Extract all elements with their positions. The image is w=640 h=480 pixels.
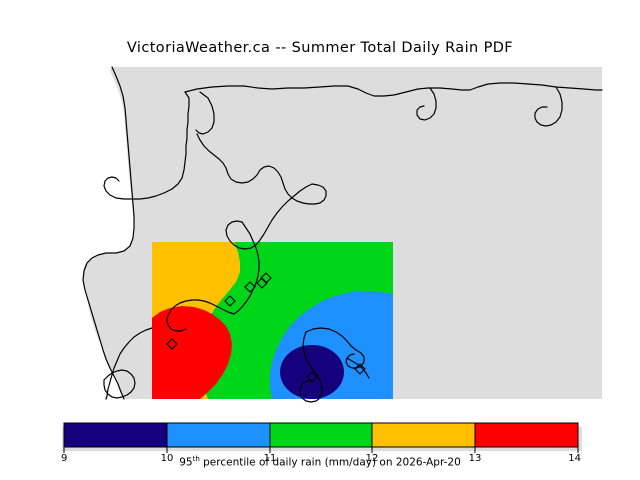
colorbar-band-12-13[interactable] [372, 423, 475, 447]
colorbar-band-10-11[interactable] [167, 423, 270, 447]
colorbar-band-9-10[interactable] [64, 423, 167, 447]
figure-title: VictoriaWeather.ca -- Summer Total Daily… [0, 40, 640, 56]
colorbar-caption: 95th percentile of daily rain (mm/day) o… [0, 455, 640, 469]
caption-suffix: percentile of daily rain (mm/day) on 202… [200, 457, 461, 469]
contour-fill-layer [152, 242, 393, 399]
map-svg [0, 62, 640, 407]
caption-prefix: 95 [179, 457, 192, 469]
colorbar-panel: 9 10 11 12 13 14 [0, 415, 640, 480]
colorbar-band-13-14[interactable] [475, 423, 578, 447]
caption-superscript: th [193, 455, 200, 463]
colorbar-band-11-12[interactable] [270, 423, 372, 447]
weather-map-figure: VictoriaWeather.ca -- Summer Total Daily… [0, 0, 640, 480]
map-panel [0, 62, 640, 407]
colorbar-bands [64, 423, 578, 447]
